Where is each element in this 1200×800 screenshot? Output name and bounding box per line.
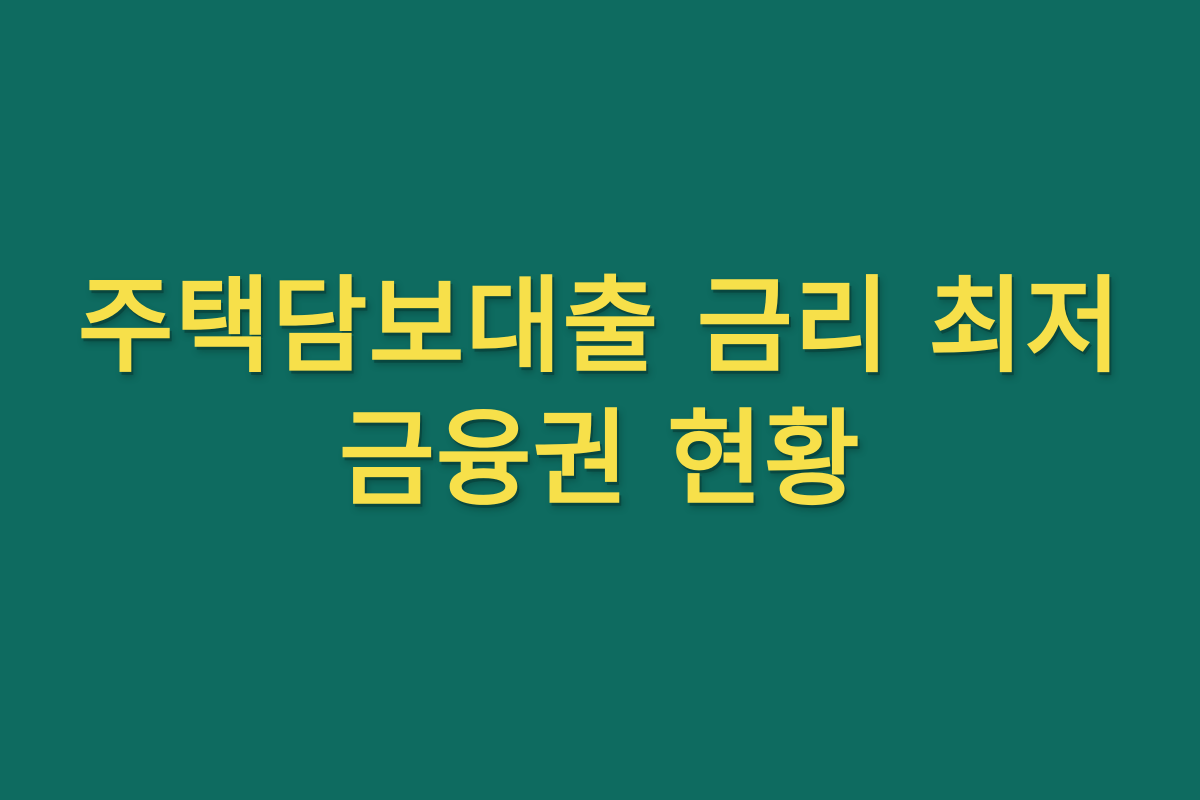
headline-line-1: 주택담보대출 금리 최저 — [40, 258, 1160, 395]
headline-line-2: 금융권 현황 — [40, 391, 1160, 528]
banner-canvas: 주택담보대출 금리 최저 금융권 현황 — [0, 0, 1200, 800]
headline-block: 주택담보대출 금리 최저 금융권 현황 — [0, 258, 1200, 529]
